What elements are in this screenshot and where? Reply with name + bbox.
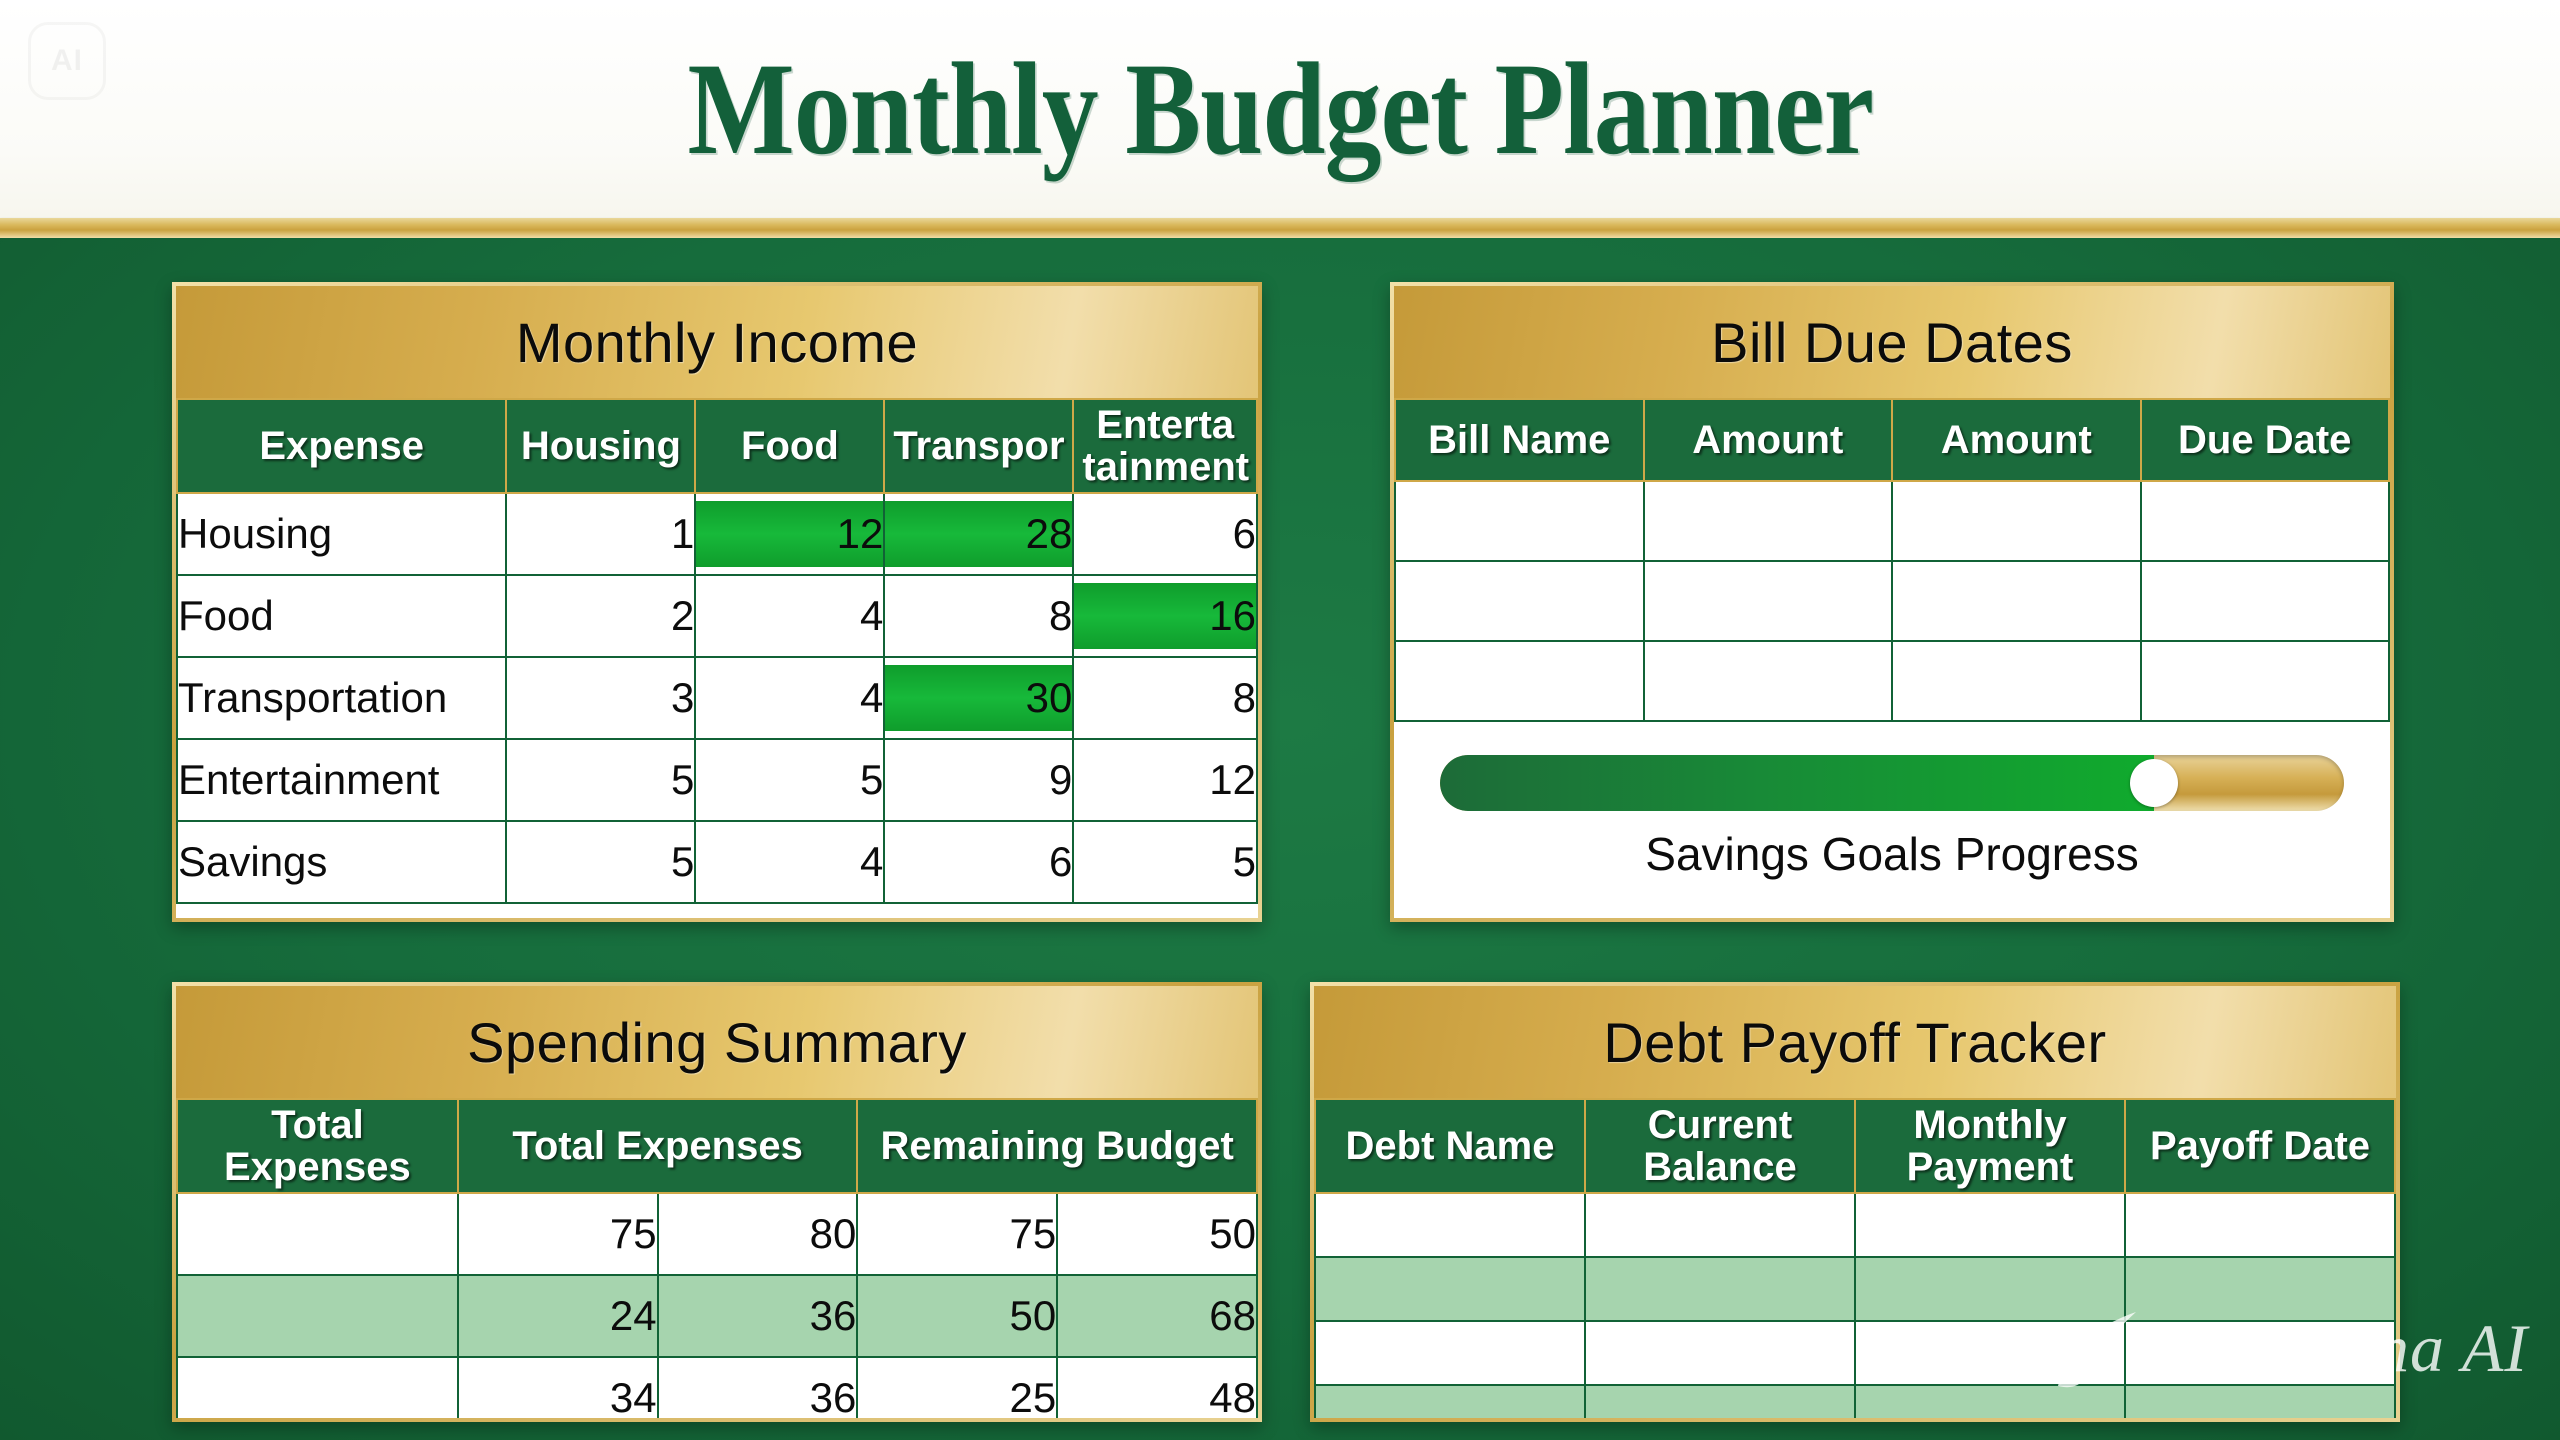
cell-current-balance[interactable] xyxy=(1585,1321,1855,1385)
panel-debt-payoff-tracker: Debt Payoff Tracker Debt Name Current Ba… xyxy=(1310,982,2400,1422)
savings-progress-slider[interactable] xyxy=(1440,755,2344,811)
column-header-due-date[interactable]: Due Date xyxy=(2141,399,2390,481)
cell-transport[interactable]: 6 xyxy=(884,821,1073,903)
cell-amount-2[interactable] xyxy=(1892,641,2141,721)
table-row[interactable]: Transportation 3 4 30 8 xyxy=(177,657,1257,739)
table-row[interactable]: Housing 1 12 28 6 xyxy=(177,493,1257,575)
savings-progress-fill xyxy=(1440,755,2154,811)
table-row[interactable] xyxy=(1315,1193,2395,1257)
column-header-bill-name[interactable]: Bill Name xyxy=(1395,399,1644,481)
cell-entertainment[interactable]: 5 xyxy=(1073,821,1257,903)
gold-divider xyxy=(0,218,2560,238)
cell-current-balance[interactable] xyxy=(1585,1385,1855,1422)
cell-value-1[interactable]: 75 xyxy=(458,1193,658,1275)
table-header-row: Total Expenses Total Expenses Remaining … xyxy=(177,1099,1257,1193)
cell-due-date[interactable] xyxy=(2141,641,2390,721)
cell-monthly-payment[interactable] xyxy=(1855,1257,2125,1321)
column-header-amount-1[interactable]: Amount xyxy=(1644,399,1893,481)
cell-housing[interactable]: 1 xyxy=(506,493,695,575)
cell-value-1[interactable]: 34 xyxy=(458,1357,658,1422)
cell-label[interactable] xyxy=(177,1193,458,1275)
cell-bill-name[interactable] xyxy=(1395,481,1644,561)
cell-amount-1[interactable] xyxy=(1644,481,1893,561)
table-row[interactable]: 75 80 75 50 xyxy=(177,1193,1257,1275)
cell-value-1[interactable]: 24 xyxy=(458,1275,658,1357)
cell-transport[interactable]: 28 xyxy=(884,493,1073,575)
table-monthly-income: Expense Housing Food Transpor Enterta ta… xyxy=(176,398,1258,904)
cell-transport[interactable]: 30 xyxy=(884,657,1073,739)
cell-value-3[interactable]: 50 xyxy=(857,1275,1057,1357)
cell-value-2[interactable]: 36 xyxy=(658,1357,858,1422)
savings-progress-label: Savings Goals Progress xyxy=(1645,827,2138,881)
cell-housing[interactable]: 5 xyxy=(506,821,695,903)
cell-bill-name[interactable] xyxy=(1395,561,1644,641)
cell-food[interactable]: 4 xyxy=(695,657,884,739)
cell-monthly-payment[interactable] xyxy=(1855,1193,2125,1257)
cell-payoff-date[interactable] xyxy=(2125,1321,2395,1385)
cell-expense[interactable]: Housing xyxy=(177,493,506,575)
panel-monthly-income: Monthly Income Expense Housing Food Tran… xyxy=(172,282,1262,922)
cell-debt-name[interactable] xyxy=(1315,1385,1585,1422)
table-header-row: Expense Housing Food Transpor Enterta ta… xyxy=(177,399,1257,493)
table-spending-summary: Total Expenses Total Expenses Remaining … xyxy=(176,1098,1258,1422)
panel-title-debt-payoff-tracker: Debt Payoff Tracker xyxy=(1314,986,2396,1098)
cell-transport[interactable]: 8 xyxy=(884,575,1073,657)
cell-monthly-payment[interactable] xyxy=(1855,1321,2125,1385)
column-header-debt-name[interactable]: Debt Name xyxy=(1315,1099,1585,1193)
table-row[interactable]: 24 36 50 68 xyxy=(177,1275,1257,1357)
cell-debt-name[interactable] xyxy=(1315,1321,1585,1385)
cell-housing[interactable]: 5 xyxy=(506,739,695,821)
column-header-amount-2[interactable]: Amount xyxy=(1892,399,2141,481)
cell-label[interactable] xyxy=(177,1275,458,1357)
cell-entertainment[interactable]: 8 xyxy=(1073,657,1257,739)
panel-title-bill-due-dates: Bill Due Dates xyxy=(1394,286,2390,398)
cell-value-4[interactable]: 50 xyxy=(1057,1193,1257,1275)
savings-goals-progress-section: Savings Goals Progress xyxy=(1394,722,2390,918)
column-header-total-expenses-2[interactable]: Total Expenses xyxy=(458,1099,858,1193)
cell-entertainment[interactable]: 6 xyxy=(1073,493,1257,575)
cell-expense[interactable]: Transportation xyxy=(177,657,506,739)
cell-expense[interactable]: Savings xyxy=(177,821,506,903)
cell-housing[interactable]: 2 xyxy=(506,575,695,657)
cell-value-2[interactable]: 80 xyxy=(658,1193,858,1275)
cell-value-4[interactable]: 68 xyxy=(1057,1275,1257,1357)
column-header-current-balance[interactable]: Current Balance xyxy=(1585,1099,1855,1193)
cell-debt-name[interactable] xyxy=(1315,1193,1585,1257)
table-row[interactable] xyxy=(1395,481,2389,561)
table-row[interactable]: Entertainment 5 5 9 12 xyxy=(177,739,1257,821)
table-row[interactable] xyxy=(1315,1257,2395,1321)
cell-current-balance[interactable] xyxy=(1585,1257,1855,1321)
cell-entertainment[interactable]: 12 xyxy=(1073,739,1257,821)
panel-title-monthly-income: Monthly Income xyxy=(176,286,1258,398)
cell-amount-2[interactable] xyxy=(1892,481,2141,561)
table-debt-payoff-tracker: Debt Name Current Balance Monthly Paymen… xyxy=(1314,1098,2396,1422)
table-row[interactable]: Food 2 4 8 16 xyxy=(177,575,1257,657)
cell-amount-1[interactable] xyxy=(1644,561,1893,641)
column-header-food[interactable]: Food xyxy=(695,399,884,493)
cell-due-date[interactable] xyxy=(2141,561,2390,641)
cell-payoff-date[interactable] xyxy=(2125,1385,2395,1422)
cell-transport[interactable]: 9 xyxy=(884,739,1073,821)
table-row[interactable] xyxy=(1395,641,2389,721)
column-header-payoff-date[interactable]: Payoff Date xyxy=(2125,1099,2395,1193)
cell-debt-name[interactable] xyxy=(1315,1257,1585,1321)
column-header-monthly-payment[interactable]: Monthly Payment xyxy=(1855,1099,2125,1193)
table-header-row: Debt Name Current Balance Monthly Paymen… xyxy=(1315,1099,2395,1193)
table-header-row: Bill Name Amount Amount Due Date xyxy=(1395,399,2389,481)
table-row[interactable] xyxy=(1315,1321,2395,1385)
column-header-remaining-budget[interactable]: Remaining Budget xyxy=(857,1099,1257,1193)
table-row[interactable] xyxy=(1395,561,2389,641)
cell-food[interactable]: 4 xyxy=(695,821,884,903)
cell-food[interactable]: 4 xyxy=(695,575,884,657)
cell-amount-2[interactable] xyxy=(1892,561,2141,641)
column-header-total-expenses-1[interactable]: Total Expenses xyxy=(177,1099,458,1193)
cell-payoff-date[interactable] xyxy=(2125,1257,2395,1321)
board-background: Monthly Income Expense Housing Food Tran… xyxy=(0,238,2560,1440)
cell-value-3[interactable]: 75 xyxy=(857,1193,1057,1275)
cell-expense[interactable]: Entertainment xyxy=(177,739,506,821)
cell-bill-name[interactable] xyxy=(1395,641,1644,721)
column-header-expense[interactable]: Expense xyxy=(177,399,506,493)
column-header-transport[interactable]: Transpor xyxy=(884,399,1073,493)
cell-value-4[interactable]: 48 xyxy=(1057,1357,1257,1422)
cell-value-2[interactable]: 36 xyxy=(658,1275,858,1357)
cell-label[interactable] xyxy=(177,1357,458,1422)
panel-spending-summary: Spending Summary Total Expenses Total Ex… xyxy=(172,982,1262,1422)
table-row[interactable]: Savings 5 4 6 5 xyxy=(177,821,1257,903)
cell-expense[interactable]: Food xyxy=(177,575,506,657)
column-header-entertainment[interactable]: Enterta tainment xyxy=(1073,399,1257,493)
cell-value-3[interactable]: 25 xyxy=(857,1357,1057,1422)
table-row[interactable] xyxy=(1315,1385,2395,1422)
page-title: Monthly Budget Planner xyxy=(687,43,1873,175)
column-header-housing[interactable]: Housing xyxy=(506,399,695,493)
ai-logo-icon: AI xyxy=(28,22,106,100)
cell-monthly-payment[interactable] xyxy=(1855,1385,2125,1422)
cell-entertainment[interactable]: 16 xyxy=(1073,575,1257,657)
panel-title-spending-summary: Spending Summary xyxy=(176,986,1258,1098)
cell-amount-1[interactable] xyxy=(1644,641,1893,721)
table-row[interactable]: 34 36 25 48 xyxy=(177,1357,1257,1422)
savings-progress-knob[interactable] xyxy=(2130,759,2178,807)
table-bill-due-dates: Bill Name Amount Amount Due Date xyxy=(1394,398,2390,722)
cell-housing[interactable]: 3 xyxy=(506,657,695,739)
cell-food[interactable]: 12 xyxy=(695,493,884,575)
cell-current-balance[interactable] xyxy=(1585,1193,1855,1257)
cell-due-date[interactable] xyxy=(2141,481,2390,561)
panel-bill-due-dates: Bill Due Dates Bill Name Amount Amount D… xyxy=(1390,282,2394,922)
cell-payoff-date[interactable] xyxy=(2125,1193,2395,1257)
cell-food[interactable]: 5 xyxy=(695,739,884,821)
header-band: AI Monthly Budget Planner xyxy=(0,0,2560,218)
